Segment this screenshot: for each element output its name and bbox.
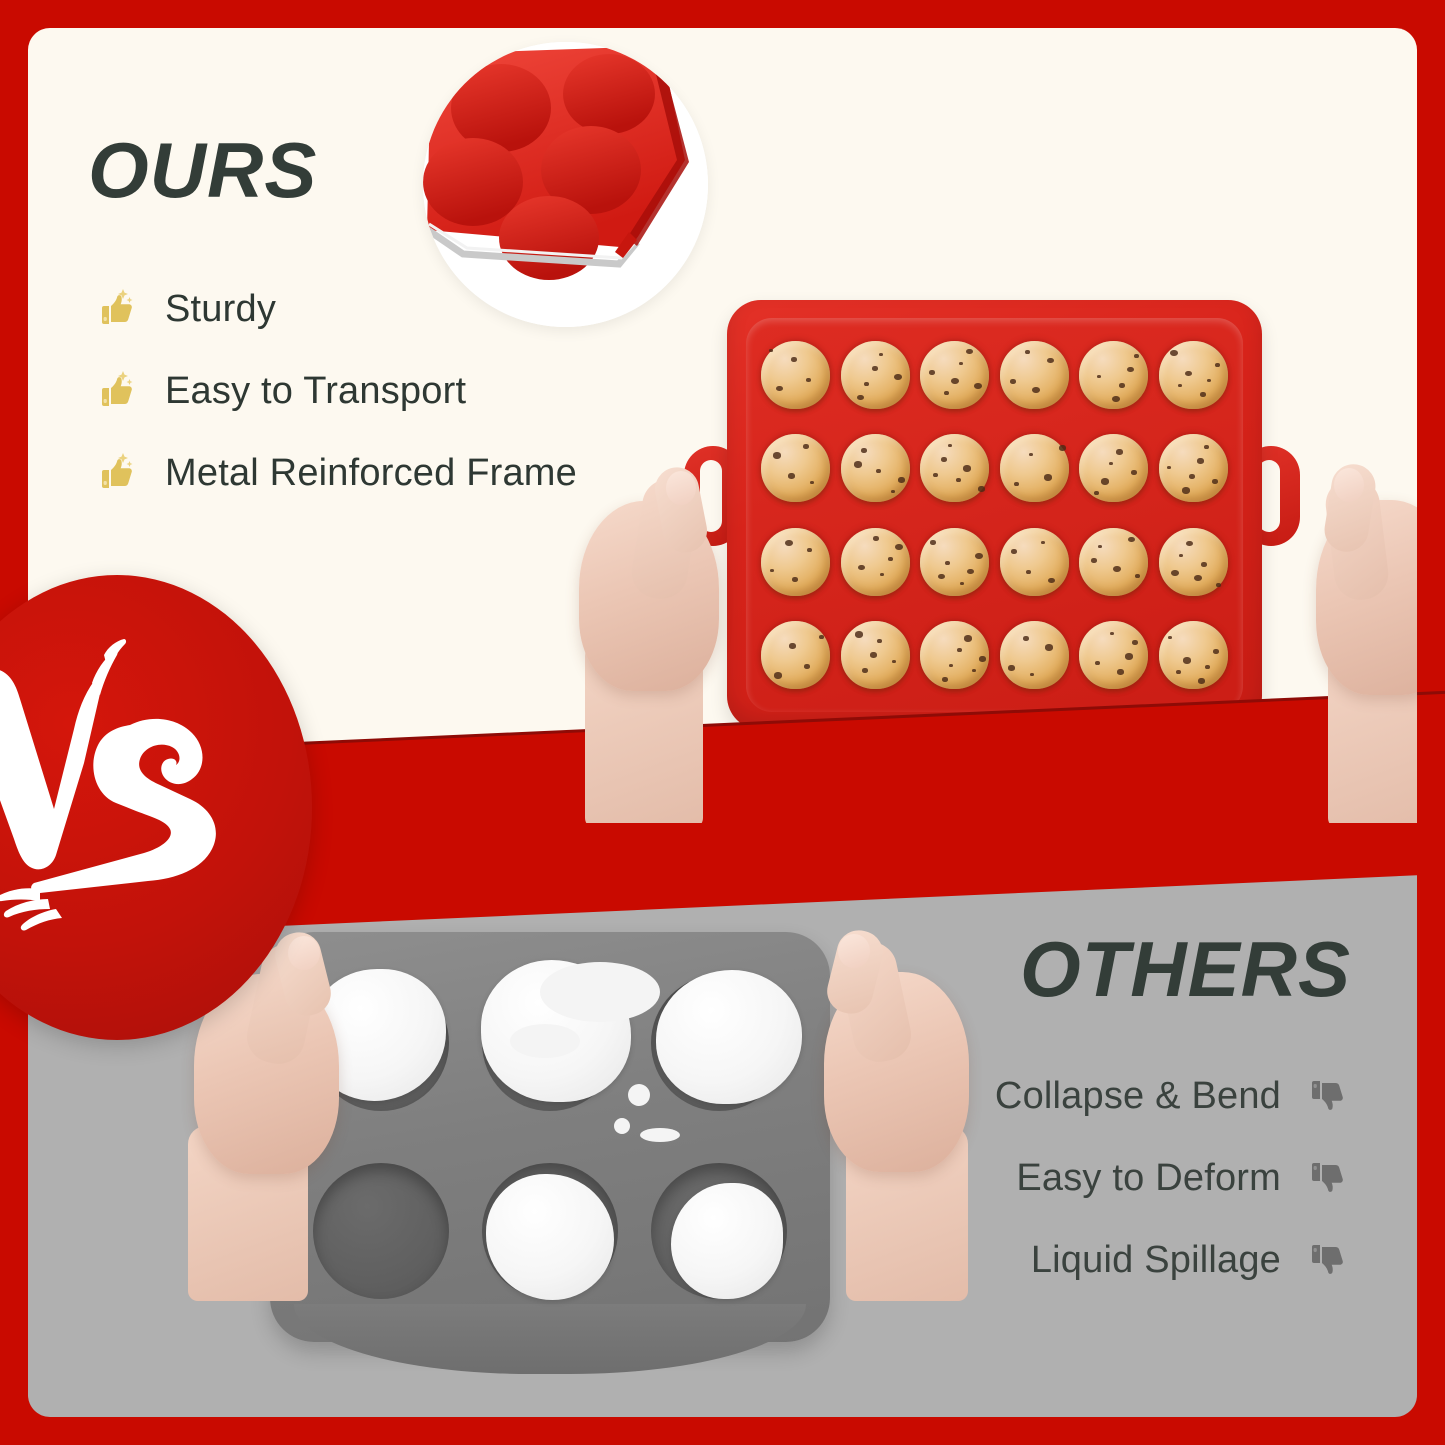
chocolate-chip (1032, 387, 1040, 393)
muffin-cup (758, 424, 834, 514)
chocolate-chip (1198, 678, 1205, 684)
chocolate-chip (1044, 474, 1052, 480)
chocolate-chip (862, 668, 868, 673)
thumbs-up-icon (92, 367, 140, 415)
chocolate-chip (942, 677, 948, 682)
muffin (1000, 434, 1069, 502)
chocolate-chip (888, 557, 893, 561)
fingernail (1334, 468, 1364, 502)
spilled-batter (486, 1174, 614, 1300)
chocolate-chip (873, 536, 879, 541)
spilled-batter (656, 970, 802, 1104)
chocolate-chip (854, 461, 862, 467)
feature-label: Sturdy (165, 288, 276, 331)
chocolate-chip (974, 383, 982, 389)
muffin (841, 434, 910, 502)
chocolate-chip (1008, 665, 1015, 671)
chocolate-chip (861, 448, 867, 453)
muffin (920, 621, 989, 689)
chocolate-chip (949, 664, 953, 667)
muffin-cup (1076, 424, 1152, 514)
chocolate-chip (1119, 383, 1125, 388)
spilled-batter (671, 1183, 783, 1299)
chocolate-chip (1212, 479, 1218, 484)
muffin-cup (1076, 611, 1152, 701)
pan-cup (639, 954, 798, 1132)
chocolate-chip (966, 349, 973, 355)
muffin (1000, 341, 1069, 409)
muffin-cup (997, 611, 1073, 701)
chocolate-chip (1189, 474, 1195, 479)
chocolate-chip (894, 374, 902, 380)
muffin-cup (917, 517, 993, 607)
chocolate-chip (933, 473, 938, 477)
chocolate-chip (789, 643, 796, 649)
chocolate-chip (1135, 574, 1140, 578)
muffin-cup (917, 611, 993, 701)
muffin (1079, 528, 1148, 596)
muffin (1079, 341, 1148, 409)
chocolate-chip (1197, 458, 1204, 464)
chocolate-chip (1091, 558, 1097, 563)
muffin (1159, 621, 1228, 689)
muffin-cup (758, 330, 834, 420)
chocolate-chip (1117, 669, 1124, 675)
chocolate-chip (1025, 350, 1030, 354)
chocolate-chip (1095, 661, 1100, 665)
chocolate-chip (1201, 562, 1207, 567)
chocolate-chip (819, 635, 824, 639)
chocolate-chip (810, 481, 814, 484)
chocolate-chip (1047, 358, 1054, 364)
fingernail (666, 471, 696, 505)
chocolate-chip (1171, 570, 1179, 576)
muffin (1159, 341, 1228, 409)
vs-badge (0, 575, 312, 1040)
chocolate-chip (895, 544, 903, 550)
chocolate-chip (1170, 350, 1178, 356)
chocolate-chip (1097, 375, 1101, 378)
chocolate-chip (979, 656, 986, 662)
muffin (761, 434, 830, 502)
muffin-cup (758, 517, 834, 607)
muffin-cup (838, 330, 914, 420)
vs-brush-glyph (0, 637, 274, 977)
chocolate-chip (857, 395, 864, 401)
hand-right-top (1286, 448, 1417, 823)
batter-drip (510, 1024, 580, 1058)
chocolate-chip (855, 631, 863, 637)
chocolate-chip (1205, 665, 1210, 669)
chocolate-chip (776, 386, 783, 392)
muffin-cup (1076, 517, 1152, 607)
chocolate-chip (877, 639, 882, 643)
chocolate-chip (870, 652, 877, 658)
fingernail (838, 934, 870, 968)
muffin (841, 528, 910, 596)
chocolate-chip (1059, 445, 1066, 451)
chocolate-chip (945, 561, 950, 565)
list-item: Liquid Spillage (995, 1219, 1351, 1301)
chocolate-chip (1113, 566, 1121, 572)
chocolate-chip (1215, 363, 1220, 367)
muffin-cup (1076, 330, 1152, 420)
chocolate-chip (1041, 541, 1045, 544)
pan-cup (639, 1142, 798, 1320)
chocolate-chip (788, 473, 795, 479)
chocolate-chip (978, 486, 985, 492)
chocolate-chip (1134, 354, 1139, 358)
chocolate-chip (1010, 379, 1016, 384)
batter-drip (628, 1084, 650, 1106)
muffin-cup (917, 424, 993, 514)
chocolate-chip (1132, 640, 1138, 645)
chocolate-chip (960, 582, 964, 585)
thumbs-up-icon (92, 285, 140, 333)
thumbs-up-icon (92, 449, 140, 497)
muffin-cup (758, 611, 834, 701)
thumbs-down-icon (1303, 1072, 1351, 1120)
muffin-cup (838, 517, 914, 607)
list-item: Easy to Deform (995, 1137, 1351, 1219)
muffin (1079, 621, 1148, 689)
hand-left-top (573, 453, 753, 823)
chocolate-chip (1030, 673, 1034, 676)
chocolate-chip (1183, 657, 1191, 663)
chocolate-chip (770, 569, 774, 572)
chocolate-chip (803, 444, 809, 449)
chocolate-chip (948, 444, 952, 447)
con-label: Easy to Deform (1016, 1157, 1281, 1200)
muffin (1000, 621, 1069, 689)
others-con-list: Collapse & Bend Easy to Deform Liquid (995, 1055, 1351, 1301)
chocolate-chip (1178, 384, 1182, 387)
muffin-cup-grid (758, 330, 1231, 700)
chocolate-chip (1045, 644, 1053, 650)
chocolate-chip (858, 565, 865, 571)
page-title-ours: OURS (88, 131, 317, 209)
chocolate-chip (1127, 367, 1134, 373)
chocolate-chip (963, 465, 971, 471)
product-comparison-poster: OURS Sturdy (0, 0, 1445, 1445)
chocolate-chip (806, 378, 811, 382)
chocolate-chip (929, 370, 935, 375)
chocolate-chip (959, 362, 963, 365)
chocolate-chip (1168, 636, 1172, 639)
muffin (1000, 528, 1069, 596)
muffin (761, 621, 830, 689)
hand-right-bottom (788, 924, 973, 1296)
chocolate-chip (1182, 487, 1190, 493)
list-item: Metal Reinforced Frame (92, 432, 577, 514)
chocolate-chip (1014, 482, 1019, 486)
chocolate-chip (938, 574, 945, 580)
muffin-cup (1156, 424, 1232, 514)
chocolate-chip (1112, 396, 1120, 402)
chocolate-chip (1200, 392, 1206, 397)
muffin (841, 341, 910, 409)
thumbs-down-icon (1303, 1236, 1351, 1284)
chocolate-chip (1204, 445, 1209, 449)
muffin-cup (917, 330, 993, 420)
chocolate-chip (1110, 632, 1114, 635)
chocolate-chip (769, 349, 773, 352)
chocolate-chip (1194, 575, 1202, 581)
muffin-cup (1156, 330, 1232, 420)
muffin-cup (1156, 611, 1232, 701)
chocolate-chip (891, 490, 895, 493)
muffin (1159, 528, 1228, 596)
chocolate-chip (791, 357, 797, 362)
muffin-cup (838, 611, 914, 701)
chocolate-chip (957, 648, 962, 652)
chocolate-chip (1179, 554, 1183, 557)
red-silicone-muffin-tray (672, 300, 1312, 730)
chocolate-chip (864, 382, 869, 386)
muffin (1079, 434, 1148, 502)
chocolate-chip (785, 540, 793, 546)
muffin-cup (997, 424, 1073, 514)
muffin (761, 341, 830, 409)
chocolate-chip (792, 577, 798, 582)
chocolate-chip (1109, 462, 1113, 465)
chocolate-chip (879, 353, 883, 356)
chocolate-chip (1116, 449, 1123, 455)
chocolate-chip (892, 660, 896, 663)
chocolate-chip (1186, 541, 1193, 547)
chocolate-chip (1213, 649, 1219, 654)
chocolate-chip (876, 469, 881, 473)
chocolate-chip (1131, 470, 1137, 475)
muffin-cup (838, 424, 914, 514)
chocolate-chip (964, 635, 972, 641)
chocolate-chip (804, 664, 810, 669)
con-label: Collapse & Bend (995, 1075, 1281, 1118)
muffin-cup (997, 330, 1073, 420)
page-title-others: OTHERS (1020, 930, 1351, 1008)
chocolate-chip (1128, 537, 1135, 543)
list-item: Collapse & Bend (995, 1055, 1351, 1137)
chocolate-chip (1011, 549, 1017, 554)
chocolate-chip (1026, 570, 1031, 574)
muffin (841, 621, 910, 689)
muffin-cup (997, 517, 1073, 607)
batter-drip (540, 962, 660, 1022)
muffin (920, 434, 989, 502)
feature-label: Metal Reinforced Frame (165, 452, 577, 495)
batter-drip (640, 1128, 680, 1142)
batter-drip (614, 1118, 630, 1134)
chocolate-chip (967, 569, 974, 575)
chocolate-chip (1167, 466, 1171, 469)
chocolate-chip (956, 478, 961, 482)
chocolate-chip (972, 669, 976, 672)
pan-cup (471, 1142, 630, 1320)
closeup-illustration (423, 42, 708, 327)
chocolate-chip (941, 457, 947, 462)
chocolate-chip (1029, 453, 1033, 456)
chocolate-chip (1048, 578, 1055, 584)
chocolate-chip (1125, 653, 1133, 659)
tray-frame-closeup-inset (423, 42, 708, 327)
chocolate-chip (1023, 636, 1029, 641)
chocolate-chip (975, 553, 983, 559)
list-item: Easy to Transport (92, 350, 577, 432)
chocolate-chip (872, 366, 878, 371)
thumbs-down-icon (1303, 1154, 1351, 1202)
chocolate-chip (774, 672, 782, 678)
chocolate-chip (1207, 379, 1211, 382)
chocolate-chip (898, 477, 905, 483)
muffin (920, 341, 989, 409)
chocolate-chip (880, 573, 884, 576)
chocolate-chip (1098, 545, 1102, 548)
muffin (920, 528, 989, 596)
chocolate-chip (1094, 491, 1099, 495)
chocolate-chip (944, 391, 949, 395)
chocolate-chip (930, 540, 936, 545)
feature-label: Easy to Transport (165, 370, 466, 413)
muffin (761, 528, 830, 596)
muffin-cup (1156, 517, 1232, 607)
chocolate-chip (773, 452, 781, 458)
muffin (1159, 434, 1228, 502)
chocolate-chip (807, 548, 812, 552)
con-label: Liquid Spillage (1031, 1239, 1281, 1282)
chocolate-chip (1101, 478, 1109, 484)
chocolate-chip (1176, 670, 1181, 674)
chocolate-chip (1216, 583, 1221, 587)
chocolate-chip (1185, 371, 1192, 377)
chocolate-chip (951, 378, 959, 384)
